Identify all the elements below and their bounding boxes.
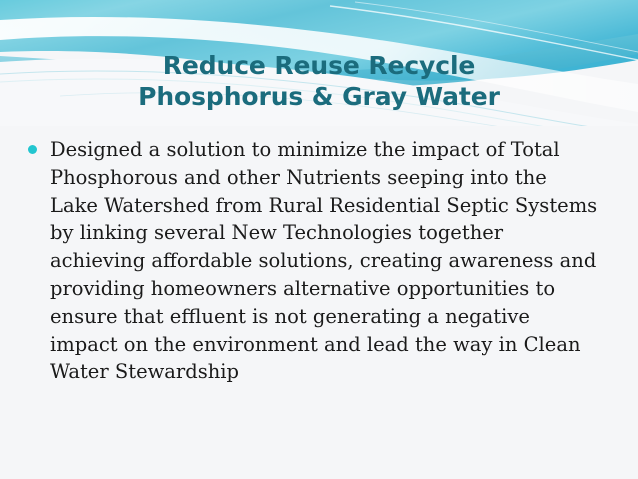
- title-line-2: Phosphorus & Gray Water: [0, 81, 638, 112]
- list-item: Designed a solution to minimize the impa…: [28, 136, 618, 386]
- slide-title: Reduce Reuse Recycle Phosphorus & Gray W…: [0, 50, 638, 112]
- title-line-1: Reduce Reuse Recycle: [0, 50, 638, 81]
- bullet-line: Lake Watershed from Rural Residential Se…: [50, 192, 618, 220]
- slide-canvas: Reduce Reuse Recycle Phosphorus & Gray W…: [0, 0, 638, 479]
- bullet-line: Water Stewardship: [50, 358, 618, 386]
- bullet-line: ensure that effluent is not generating a…: [50, 303, 618, 331]
- slide-body: Designed a solution to minimize the impa…: [28, 136, 618, 386]
- bullet-line: providing homeowners alternative opportu…: [50, 275, 618, 303]
- bullet-line: achieving affordable solutions, creating…: [50, 247, 618, 275]
- bullet-line: impact on the environment and lead the w…: [50, 331, 618, 359]
- bullet-dot-icon: [28, 136, 50, 154]
- bullet-line: by linking several New Technologies toge…: [50, 219, 618, 247]
- bullet-paragraph: Designed a solution to minimize the impa…: [50, 136, 618, 386]
- bullet-line: Designed a solution to minimize the impa…: [50, 136, 618, 164]
- bullet-line: Phosphorous and other Nutrients seeping …: [50, 164, 618, 192]
